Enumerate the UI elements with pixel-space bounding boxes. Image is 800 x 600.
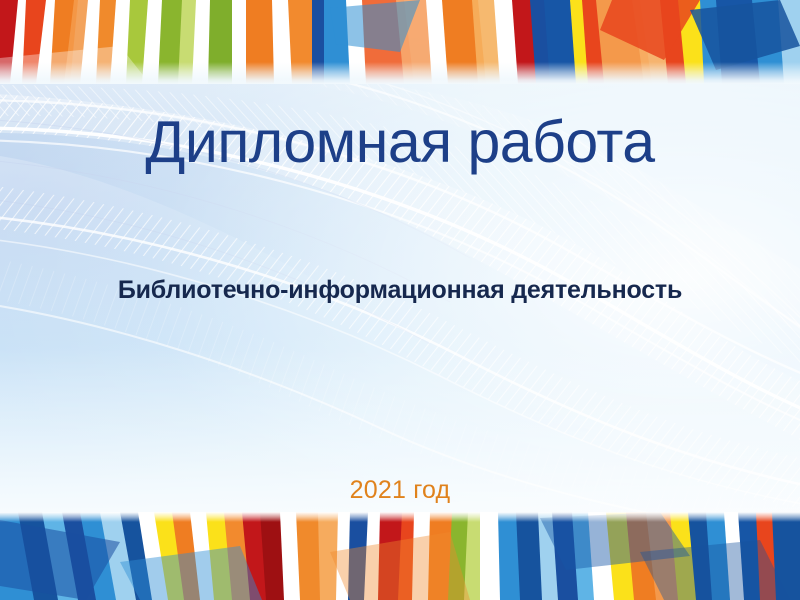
top-band-graphic	[0, 0, 800, 84]
slide-title: Дипломная работа	[0, 112, 800, 172]
slide-subtitle: Библиотечно-информационная деятельность	[0, 276, 800, 305]
top-decorative-band	[0, 0, 800, 84]
presentation-title-slide: Дипломная работа Библиотечно-информацион…	[0, 0, 800, 600]
slide-year: 2021 год	[0, 476, 800, 505]
bottom-decorative-band	[0, 512, 800, 600]
bottom-band-graphic	[0, 512, 800, 600]
